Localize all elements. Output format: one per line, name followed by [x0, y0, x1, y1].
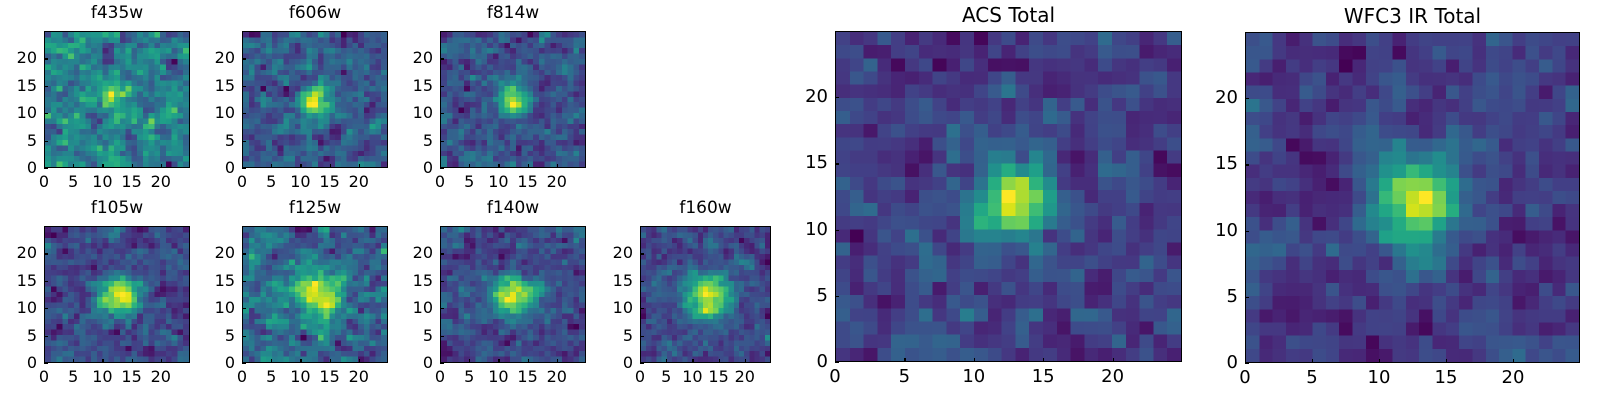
heatmap-image-f105w: [45, 227, 189, 362]
heatmap-axes-f105w[interactable]: [44, 226, 190, 363]
x-tick-f606w-15: [330, 164, 331, 168]
x-tick-f435w-10: [102, 164, 103, 168]
x-ticklabel-acs-total-20: 20: [1101, 368, 1124, 386]
x-tick-f814w-10: [498, 164, 499, 168]
y-tick-acs-total-10: [835, 230, 839, 231]
figure-canvas: f435w0055101015152020f606w00551010151520…: [0, 0, 1600, 400]
heatmap-image-f140w: [441, 227, 585, 362]
heatmap-axes-f140w[interactable]: [440, 226, 586, 363]
x-tick-f140w-15: [528, 359, 529, 363]
panel-acs-total: ACS Total0055101015152020: [775, 3, 1192, 394]
x-ticklabel-f814w-5: 5: [464, 174, 474, 190]
x-ticklabel-acs-total-15: 15: [1032, 368, 1055, 386]
y-ticklabel-f140w-20: 20: [413, 245, 433, 261]
y-ticklabel-wfc3-ir-total-20: 20: [1215, 89, 1238, 107]
y-tick-wfc3-ir-total-15: [1245, 164, 1249, 165]
y-ticklabel-acs-total-5: 5: [817, 287, 828, 305]
y-ticklabel-wfc3-ir-total-15: 15: [1215, 155, 1238, 173]
x-ticklabel-f125w-5: 5: [266, 369, 276, 385]
x-ticklabel-f125w-10: 10: [290, 369, 310, 385]
x-ticklabel-f814w-20: 20: [547, 174, 567, 190]
x-tick-f140w-10: [498, 359, 499, 363]
panel-f140w: f140w0055101015152020: [380, 198, 596, 395]
y-tick-f105w-10: [44, 308, 48, 309]
y-ticklabel-f105w-15: 15: [17, 273, 37, 289]
y-tick-f125w-20: [242, 253, 246, 254]
x-ticklabel-f435w-5: 5: [68, 174, 78, 190]
x-ticklabel-f814w-10: 10: [488, 174, 508, 190]
panel-f435w: f435w0055101015152020: [0, 3, 200, 200]
y-ticklabel-f606w-10: 10: [215, 105, 235, 121]
y-tick-f105w-5: [44, 336, 48, 337]
y-tick-acs-total-15: [835, 163, 839, 164]
y-tick-wfc3-ir-total-0: [1245, 363, 1249, 364]
y-tick-f140w-20: [440, 253, 444, 254]
x-ticklabel-wfc3-ir-total-20: 20: [1502, 369, 1525, 387]
y-ticklabel-f606w-5: 5: [225, 133, 235, 149]
x-tick-f105w-5: [73, 359, 74, 363]
x-tick-wfc3-ir-total-15: [1446, 359, 1447, 363]
y-ticklabel-f105w-10: 10: [17, 300, 37, 316]
x-ticklabel-f125w-20: 20: [349, 369, 369, 385]
x-ticklabel-acs-total-0: 0: [829, 368, 840, 386]
x-ticklabel-f814w-0: 0: [435, 174, 445, 190]
y-tick-f140w-15: [440, 281, 444, 282]
x-tick-f125w-20: [359, 359, 360, 363]
y-ticklabel-f160w-10: 10: [613, 300, 633, 316]
y-tick-f160w-10: [640, 308, 644, 309]
x-ticklabel-wfc3-ir-total-0: 0: [1239, 369, 1250, 387]
x-ticklabel-f606w-0: 0: [237, 174, 247, 190]
heatmap-axes-f606w[interactable]: [242, 31, 388, 168]
heatmap-axes-f160w[interactable]: [640, 226, 771, 363]
y-ticklabel-f160w-0: 0: [623, 355, 633, 371]
y-ticklabel-wfc3-ir-total-10: 10: [1215, 222, 1238, 240]
y-ticklabel-f814w-15: 15: [413, 78, 433, 94]
x-tick-f606w-5: [271, 164, 272, 168]
y-tick-f814w-0: [440, 168, 444, 169]
y-tick-f105w-15: [44, 281, 48, 282]
y-tick-f435w-20: [44, 58, 48, 59]
panel-title-wfc3-ir-total: WFC3 IR Total: [1245, 6, 1580, 26]
x-ticklabel-f125w-0: 0: [237, 369, 247, 385]
heatmap-axes-f814w[interactable]: [440, 31, 586, 168]
y-tick-f160w-5: [640, 336, 644, 337]
x-ticklabel-f606w-20: 20: [349, 174, 369, 190]
y-ticklabel-acs-total-0: 0: [817, 353, 828, 371]
y-ticklabel-f140w-0: 0: [423, 355, 433, 371]
heatmap-axes-acs-total[interactable]: [835, 31, 1182, 362]
x-tick-f814w-15: [528, 164, 529, 168]
y-ticklabel-f125w-15: 15: [215, 273, 235, 289]
panel-f814w: f814w0055101015152020: [380, 3, 596, 200]
x-ticklabel-f606w-10: 10: [290, 174, 310, 190]
y-tick-f105w-0: [44, 363, 48, 364]
y-tick-f125w-0: [242, 363, 246, 364]
y-ticklabel-f160w-15: 15: [613, 273, 633, 289]
x-ticklabel-acs-total-5: 5: [899, 368, 910, 386]
y-tick-f606w-15: [242, 86, 246, 87]
y-ticklabel-f140w-10: 10: [413, 300, 433, 316]
y-ticklabel-f125w-0: 0: [225, 355, 235, 371]
y-ticklabel-f125w-5: 5: [225, 328, 235, 344]
y-ticklabel-wfc3-ir-total-0: 0: [1227, 354, 1238, 372]
x-tick-f435w-15: [132, 164, 133, 168]
x-tick-f105w-15: [132, 359, 133, 363]
y-ticklabel-f814w-5: 5: [423, 133, 433, 149]
x-ticklabel-f105w-5: 5: [68, 369, 78, 385]
y-ticklabel-f105w-0: 0: [27, 355, 37, 371]
y-tick-f435w-0: [44, 168, 48, 169]
heatmap-image-f125w: [243, 227, 387, 362]
x-ticklabel-f435w-10: 10: [92, 174, 112, 190]
x-tick-f606w-10: [300, 164, 301, 168]
y-ticklabel-f435w-20: 20: [17, 50, 37, 66]
x-ticklabel-f606w-15: 15: [319, 174, 339, 190]
y-ticklabel-f435w-0: 0: [27, 160, 37, 176]
y-tick-f160w-20: [640, 253, 644, 254]
y-ticklabel-f814w-0: 0: [423, 160, 433, 176]
x-tick-f105w-10: [102, 359, 103, 363]
panel-f125w: f125w0055101015152020: [182, 198, 398, 395]
y-tick-f814w-5: [440, 141, 444, 142]
x-ticklabel-f140w-10: 10: [488, 369, 508, 385]
y-ticklabel-acs-total-10: 10: [805, 221, 828, 239]
y-tick-f140w-10: [440, 308, 444, 309]
y-tick-f814w-15: [440, 86, 444, 87]
x-ticklabel-f435w-20: 20: [151, 174, 171, 190]
y-ticklabel-f435w-10: 10: [17, 105, 37, 121]
x-tick-acs-total-5: [904, 358, 905, 362]
panel-title-f140w: f140w: [440, 200, 586, 217]
x-ticklabel-f105w-20: 20: [151, 369, 171, 385]
x-tick-f814w-20: [557, 164, 558, 168]
x-ticklabel-wfc3-ir-total-10: 10: [1368, 369, 1391, 387]
panel-f105w: f105w0055101015152020: [0, 198, 200, 395]
x-ticklabel-f140w-0: 0: [435, 369, 445, 385]
x-ticklabel-wfc3-ir-total-5: 5: [1306, 369, 1317, 387]
y-tick-acs-total-0: [835, 362, 839, 363]
x-tick-acs-total-10: [974, 358, 975, 362]
y-ticklabel-f125w-20: 20: [215, 245, 235, 261]
heatmap-image-acs-total: [836, 32, 1181, 361]
y-ticklabel-f606w-20: 20: [215, 50, 235, 66]
x-ticklabel-f140w-5: 5: [464, 369, 474, 385]
y-ticklabel-f105w-20: 20: [17, 245, 37, 261]
y-tick-acs-total-20: [835, 97, 839, 98]
x-tick-f140w-20: [557, 359, 558, 363]
x-tick-f105w-20: [161, 359, 162, 363]
y-tick-f140w-5: [440, 336, 444, 337]
x-tick-wfc3-ir-total-5: [1312, 359, 1313, 363]
y-tick-f606w-5: [242, 141, 246, 142]
y-ticklabel-acs-total-20: 20: [805, 88, 828, 106]
x-tick-f435w-20: [161, 164, 162, 168]
panel-title-f105w: f105w: [44, 200, 190, 217]
heatmap-image-f160w: [641, 227, 770, 362]
x-ticklabel-f435w-0: 0: [39, 174, 49, 190]
y-tick-wfc3-ir-total-10: [1245, 231, 1249, 232]
x-ticklabel-f435w-15: 15: [121, 174, 141, 190]
x-tick-f160w-15: [719, 359, 720, 363]
panel-title-f435w: f435w: [44, 5, 190, 22]
y-ticklabel-f606w-15: 15: [215, 78, 235, 94]
x-tick-f435w-5: [73, 164, 74, 168]
x-tick-f125w-5: [271, 359, 272, 363]
y-tick-wfc3-ir-total-5: [1245, 297, 1249, 298]
heatmap-image-wfc3-ir-total: [1246, 33, 1579, 362]
y-ticklabel-f160w-20: 20: [613, 245, 633, 261]
x-tick-f160w-5: [666, 359, 667, 363]
y-ticklabel-f435w-15: 15: [17, 78, 37, 94]
x-tick-acs-total-15: [1043, 358, 1044, 362]
x-tick-f125w-10: [300, 359, 301, 363]
y-tick-f160w-15: [640, 281, 644, 282]
heatmap-axes-wfc3-ir-total[interactable]: [1245, 32, 1580, 363]
y-ticklabel-f125w-10: 10: [215, 300, 235, 316]
x-tick-wfc3-ir-total-10: [1379, 359, 1380, 363]
x-ticklabel-f160w-10: 10: [682, 369, 702, 385]
x-ticklabel-wfc3-ir-total-15: 15: [1435, 369, 1458, 387]
y-tick-f814w-10: [440, 113, 444, 114]
x-tick-f160w-10: [692, 359, 693, 363]
y-tick-f606w-20: [242, 58, 246, 59]
y-tick-f125w-15: [242, 281, 246, 282]
y-tick-f140w-0: [440, 363, 444, 364]
y-ticklabel-acs-total-15: 15: [805, 154, 828, 172]
y-tick-acs-total-5: [835, 296, 839, 297]
panel-title-f606w: f606w: [242, 5, 388, 22]
x-ticklabel-f160w-20: 20: [735, 369, 755, 385]
x-ticklabel-f140w-20: 20: [547, 369, 567, 385]
heatmap-axes-f125w[interactable]: [242, 226, 388, 363]
x-tick-f125w-15: [330, 359, 331, 363]
x-tick-f606w-20: [359, 164, 360, 168]
x-tick-f814w-5: [469, 164, 470, 168]
panel-title-f814w: f814w: [440, 5, 586, 22]
x-tick-f140w-5: [469, 359, 470, 363]
panel-wfc3-ir-total: WFC3 IR Total0055101015152020: [1185, 4, 1590, 395]
y-tick-f125w-10: [242, 308, 246, 309]
x-ticklabel-f160w-0: 0: [635, 369, 645, 385]
y-ticklabel-f435w-5: 5: [27, 133, 37, 149]
y-tick-f606w-10: [242, 113, 246, 114]
y-ticklabel-f814w-20: 20: [413, 50, 433, 66]
y-tick-f160w-0: [640, 363, 644, 364]
heatmap-image-f606w: [243, 32, 387, 167]
panel-title-f125w: f125w: [242, 200, 388, 217]
heatmap-image-f814w: [441, 32, 585, 167]
x-ticklabel-f125w-15: 15: [319, 369, 339, 385]
y-ticklabel-wfc3-ir-total-5: 5: [1227, 288, 1238, 306]
panel-f606w: f606w0055101015152020: [182, 3, 398, 200]
x-ticklabel-f160w-15: 15: [708, 369, 728, 385]
x-ticklabel-f606w-5: 5: [266, 174, 276, 190]
x-ticklabel-f140w-15: 15: [517, 369, 537, 385]
y-ticklabel-f140w-15: 15: [413, 273, 433, 289]
x-tick-wfc3-ir-total-20: [1513, 359, 1514, 363]
heatmap-image-f435w: [45, 32, 189, 167]
y-tick-f435w-5: [44, 141, 48, 142]
panel-title-acs-total: ACS Total: [835, 5, 1182, 25]
y-ticklabel-f160w-5: 5: [623, 328, 633, 344]
y-tick-f105w-20: [44, 253, 48, 254]
y-tick-f125w-5: [242, 336, 246, 337]
y-ticklabel-f606w-0: 0: [225, 160, 235, 176]
x-tick-acs-total-20: [1113, 358, 1114, 362]
x-tick-f160w-20: [745, 359, 746, 363]
panel-f160w: f160w0055101015152020: [580, 198, 781, 395]
y-tick-f435w-15: [44, 86, 48, 87]
x-ticklabel-f814w-15: 15: [517, 174, 537, 190]
x-ticklabel-f105w-15: 15: [121, 369, 141, 385]
x-ticklabel-acs-total-10: 10: [962, 368, 985, 386]
panel-title-f160w: f160w: [640, 200, 771, 217]
y-ticklabel-f814w-10: 10: [413, 105, 433, 121]
y-tick-wfc3-ir-total-20: [1245, 98, 1249, 99]
y-ticklabel-f105w-5: 5: [27, 328, 37, 344]
heatmap-axes-f435w[interactable]: [44, 31, 190, 168]
y-ticklabel-f140w-5: 5: [423, 328, 433, 344]
y-tick-f606w-0: [242, 168, 246, 169]
x-ticklabel-f105w-10: 10: [92, 369, 112, 385]
y-tick-f435w-10: [44, 113, 48, 114]
y-tick-f814w-20: [440, 58, 444, 59]
x-ticklabel-f160w-5: 5: [661, 369, 671, 385]
x-ticklabel-f105w-0: 0: [39, 369, 49, 385]
